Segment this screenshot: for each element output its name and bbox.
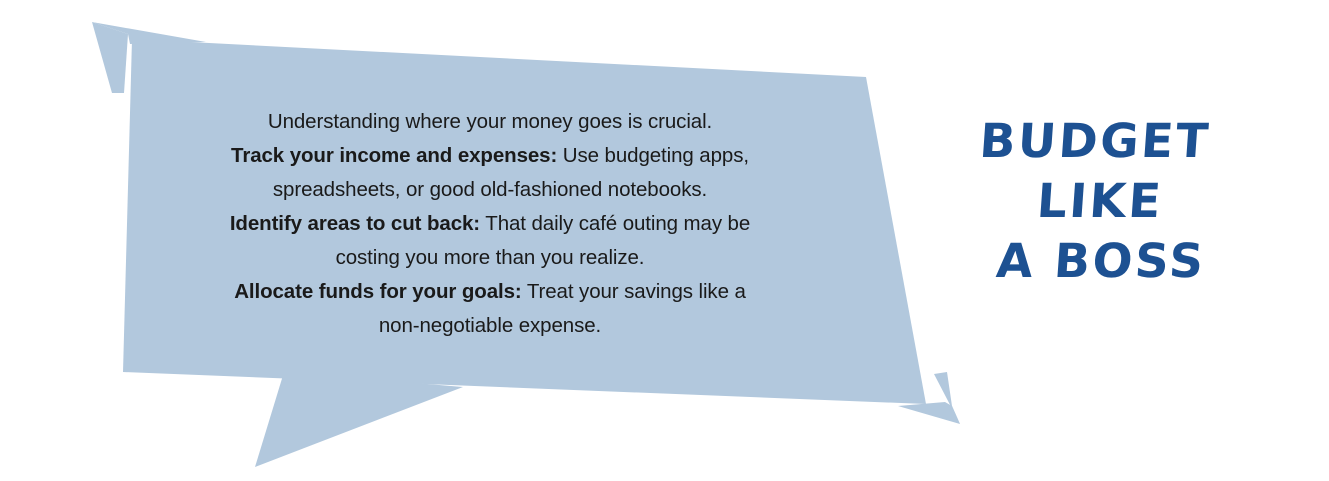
callout-line-text: Understanding where your money goes is c… [268, 110, 712, 133]
headline-line-1: BUDGET [943, 112, 1247, 172]
callout-line-text: spreadsheets, or good old-fashioned note… [273, 178, 707, 201]
callout-line: Identify areas to cut back: That daily c… [140, 207, 840, 241]
callout-line-text: Treat your savings like a [522, 280, 746, 303]
callout-line: Allocate funds for your goals: Treat you… [140, 275, 840, 309]
callout-line-text: That daily café outing may be [480, 212, 750, 235]
callout-line: Understanding where your money goes is c… [140, 105, 840, 139]
callout-line-text: Use budgeting apps, [557, 144, 749, 167]
headline-block: BUDGET LIKE A BOSS [945, 112, 1245, 292]
infographic-banner: Understanding where your money goes is c… [0, 0, 1329, 481]
headline-line-2: LIKE [943, 172, 1247, 232]
corner-bracket-top-left-vertical-wedge [92, 22, 128, 93]
callout-line-lead-in: Track your income and expenses: [231, 144, 557, 167]
callout-line: spreadsheets, or good old-fashioned note… [140, 173, 840, 207]
callout-text-block: Understanding where your money goes is c… [140, 105, 840, 343]
callout-line: costing you more than you realize. [140, 241, 840, 275]
callout-line-lead-in: Identify areas to cut back: [230, 212, 480, 235]
callout-line: Track your income and expenses: Use budg… [140, 139, 840, 173]
callout-line-text: costing you more than you realize. [336, 246, 645, 269]
corner-bracket-bottom-right-horizontal-wedge [898, 402, 960, 424]
callout-line: non-negotiable expense. [140, 309, 840, 343]
headline-line-3: A BOSS [943, 232, 1247, 292]
speech-bubble-tail [255, 372, 463, 467]
callout-line-text: non-negotiable expense. [379, 314, 601, 337]
callout-line-lead-in: Allocate funds for your goals: [234, 280, 521, 303]
